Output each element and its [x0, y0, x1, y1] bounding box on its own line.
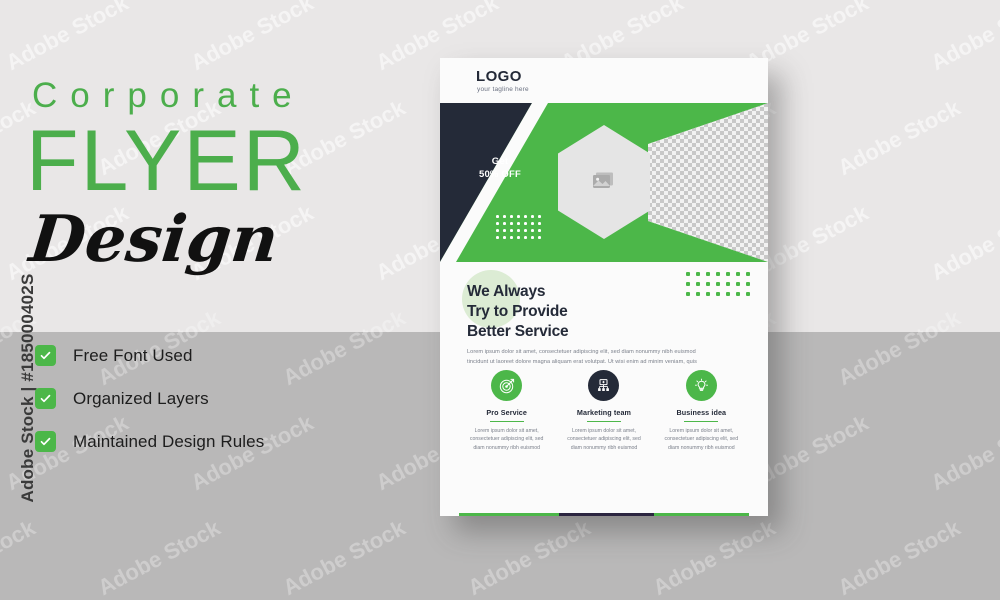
service-rule [684, 421, 718, 423]
promo-eyebrow: Corporate [32, 76, 362, 116]
flyer-headline: We Always Try to Provide Better Service [467, 282, 667, 342]
image-placeholder-icon [591, 170, 617, 195]
dot [517, 215, 520, 218]
dot [538, 236, 541, 239]
dot [503, 222, 506, 225]
dot [510, 236, 513, 239]
dot [517, 236, 520, 239]
dot [503, 236, 506, 239]
dot [726, 282, 730, 286]
service-cards: Pro Service Lorem ipsum dolor sit amet, … [458, 370, 750, 452]
target-icon [491, 370, 522, 401]
dot [517, 229, 520, 232]
dot [496, 229, 499, 232]
dot [496, 222, 499, 225]
body-dot-grid [686, 272, 756, 302]
hexagon-image-frame [558, 125, 650, 239]
feature-list: Free Font Used Organized Layers Maintain… [35, 345, 335, 474]
dot [531, 236, 534, 239]
building-icon [588, 370, 619, 401]
logo-tagline: your tagline here [477, 86, 529, 93]
service-title: Business idea [659, 408, 744, 417]
hero-dot-grid [496, 215, 545, 243]
feature-label: Free Font Used [73, 346, 193, 366]
dot [503, 215, 506, 218]
dot [510, 215, 513, 218]
feature-label: Organized Layers [73, 389, 209, 409]
dot [726, 292, 730, 296]
check-icon [35, 431, 56, 452]
dot [524, 215, 527, 218]
check-icon [35, 388, 56, 409]
promo-title: FLYER [26, 118, 307, 204]
footer-divider [459, 513, 749, 516]
service-rule [587, 421, 621, 423]
service-card-business-idea: Business idea Lorem ipsum dolor sit amet… [653, 370, 750, 452]
service-card-pro-service: Pro Service Lorem ipsum dolor sit amet, … [458, 370, 555, 452]
dot [524, 236, 527, 239]
flyer-logo-area: LOGO your tagline here [440, 58, 768, 103]
dot [716, 282, 720, 286]
dot [746, 282, 750, 286]
dot [538, 229, 541, 232]
dot [531, 229, 534, 232]
dot [736, 292, 740, 296]
dot [510, 229, 513, 232]
service-rule [490, 421, 524, 423]
list-item: Organized Layers [35, 388, 335, 409]
service-text: Lorem ipsum dolor sit amet, consectetuer… [561, 427, 646, 452]
dot [531, 215, 534, 218]
offer-line-1: Get [492, 156, 508, 167]
dot [726, 272, 730, 276]
dot [524, 222, 527, 225]
dot [496, 236, 499, 239]
promo-panel: Corporate FLYER Design [0, 0, 430, 600]
service-title: Marketing team [561, 408, 646, 417]
dot [538, 215, 541, 218]
footer-divider-accent [559, 513, 654, 516]
dot [686, 272, 690, 276]
headline-line-1: We Always [467, 282, 667, 302]
service-text: Lorem ipsum dolor sit amet, consectetuer… [464, 427, 549, 452]
flyer-hero: Get 50% OFF [440, 103, 768, 262]
dot [706, 292, 710, 296]
dot [524, 229, 527, 232]
dot [538, 222, 541, 225]
flyer-preview: LOGO your tagline here Get 50% OFF We Al… [440, 58, 768, 516]
dot [746, 272, 750, 276]
feature-label: Maintained Design Rules [73, 432, 264, 452]
dot [686, 282, 690, 286]
dot [510, 222, 513, 225]
dot [746, 292, 750, 296]
offer-badge: Get 50% OFF [462, 155, 538, 181]
dot [696, 282, 700, 286]
dot [706, 272, 710, 276]
service-text: Lorem ipsum dolor sit amet, consectetuer… [659, 427, 744, 452]
dot [716, 272, 720, 276]
service-title: Pro Service [464, 408, 549, 417]
dot [496, 215, 499, 218]
headline-line-3: Better Service [467, 322, 667, 342]
dot [706, 282, 710, 286]
dot [736, 272, 740, 276]
lightbulb-icon [686, 370, 717, 401]
service-card-marketing-team: Marketing team Lorem ipsum dolor sit ame… [555, 370, 652, 452]
dot [716, 292, 720, 296]
checkerboard-transparency [648, 103, 768, 262]
dot [696, 272, 700, 276]
dot [696, 292, 700, 296]
dot [531, 222, 534, 225]
promo-script-word: Design [27, 208, 282, 272]
check-icon [35, 345, 56, 366]
dot [503, 229, 506, 232]
flyer-paragraph: Lorem ipsum dolor sit amet, consectetuer… [467, 348, 697, 367]
list-item: Maintained Design Rules [35, 431, 335, 452]
dot [736, 282, 740, 286]
dot [686, 292, 690, 296]
headline-line-2: Try to Provide [467, 302, 667, 322]
list-item: Free Font Used [35, 345, 335, 366]
dot [517, 222, 520, 225]
logo-text: LOGO [476, 68, 522, 85]
offer-line-2: 50% OFF [479, 169, 521, 180]
